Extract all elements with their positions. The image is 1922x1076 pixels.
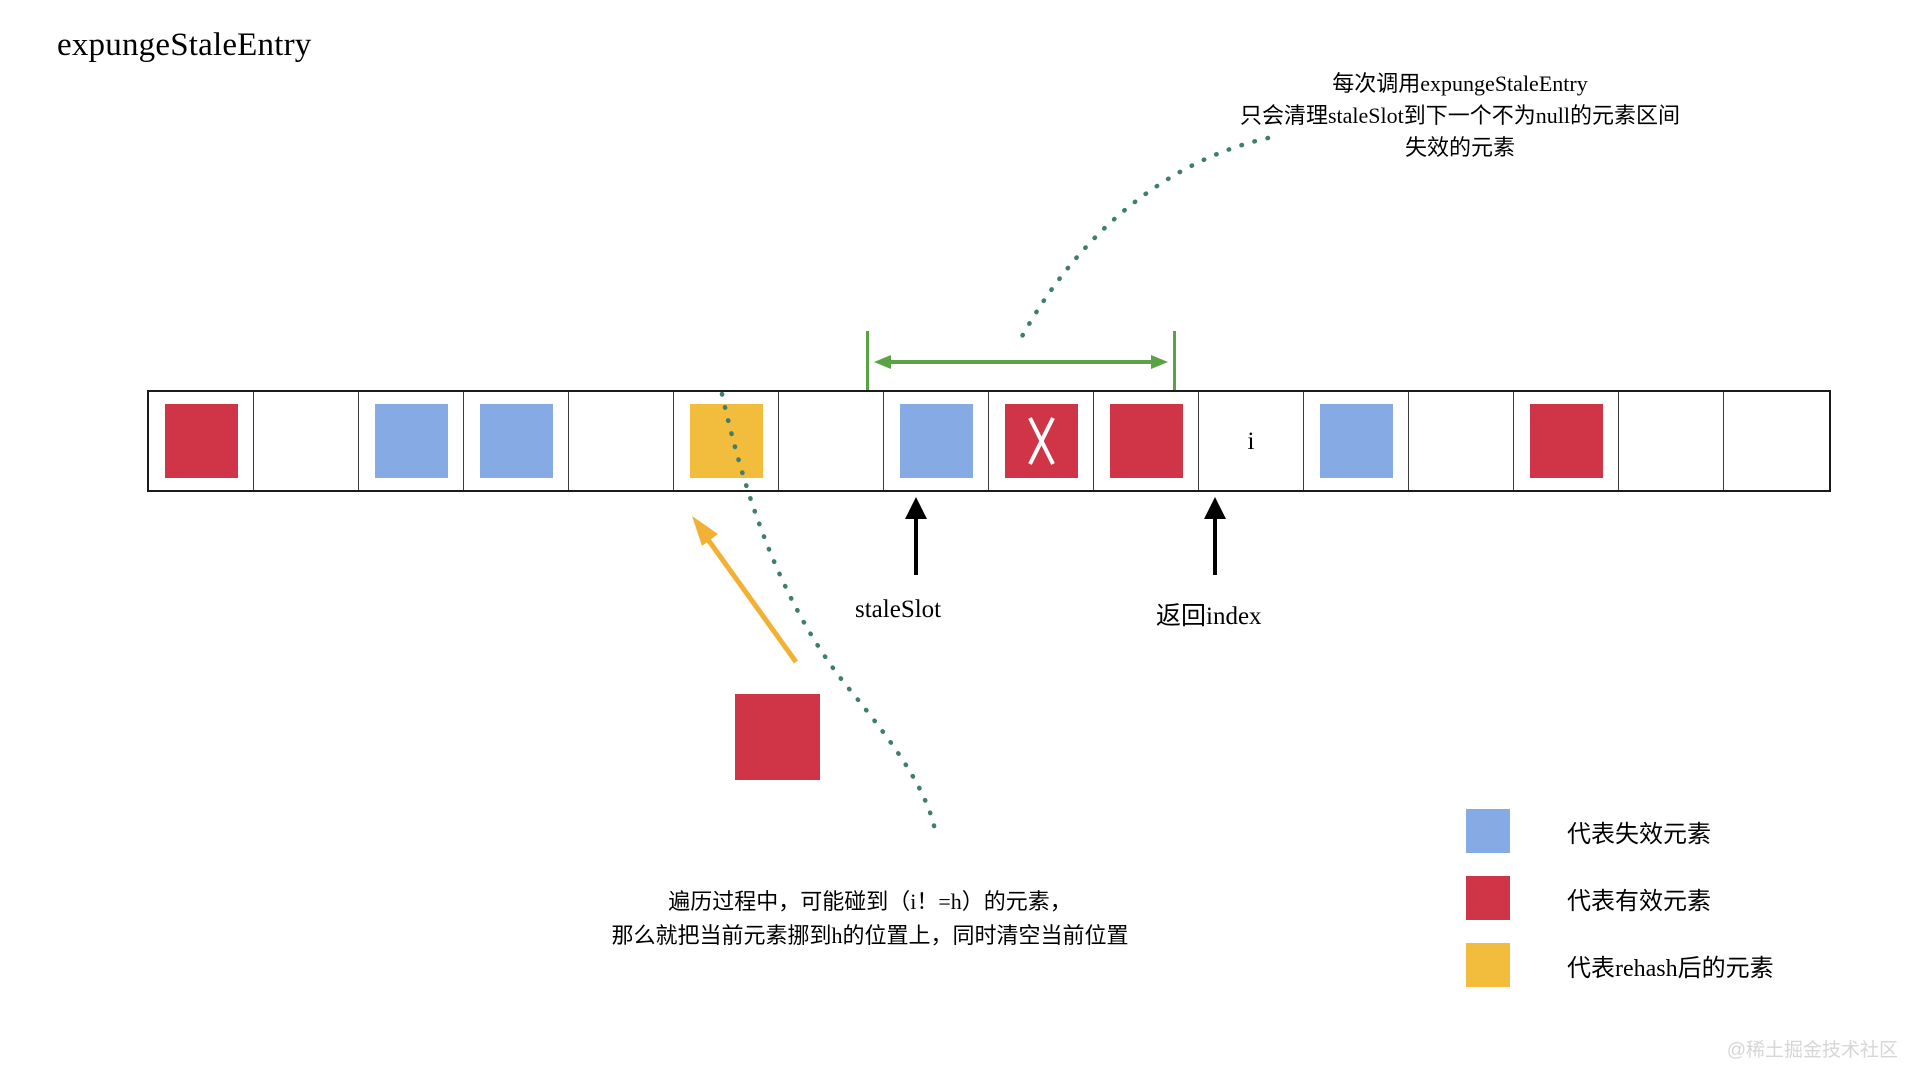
array-cell-block <box>900 404 973 478</box>
array-cell-block <box>375 404 448 478</box>
dotted-connector-top-icon <box>960 130 1280 355</box>
floating-moved-element <box>735 694 820 780</box>
array-cell: i <box>1199 392 1304 490</box>
legend-swatch-red <box>1466 876 1510 920</box>
array-cell-block <box>165 404 238 478</box>
return-index-label: 返回index <box>1156 596 1262 632</box>
range-bracket <box>866 331 1176 393</box>
array-cell <box>464 392 569 490</box>
top-annotation: 每次调用expungeStaleEntry 只会清理staleSlot到下一个不… <box>1180 68 1740 164</box>
diagram-canvas: expungeStaleEntry 每次调用expungeStaleEntry … <box>0 0 1922 1076</box>
bracket-tick-right-icon <box>1173 331 1176 393</box>
array-cell-block <box>1110 404 1183 478</box>
array-cell <box>1409 392 1514 490</box>
bracket-tick-left-icon <box>866 331 869 393</box>
legend-item: 代表rehash后的元素 <box>1466 942 1826 988</box>
legend-swatch-yellow <box>1466 943 1510 987</box>
array-cell <box>1094 392 1199 490</box>
legend: 代表失效元素代表有效元素代表rehash后的元素 <box>1466 808 1826 988</box>
staleslot-pointer-arrow-icon <box>903 497 929 575</box>
array-cell-block <box>1530 404 1603 478</box>
array-cell <box>1304 392 1409 490</box>
array-cell <box>884 392 989 490</box>
staleslot-label: staleSlot <box>855 596 941 624</box>
top-annotation-line-1: 每次调用expungeStaleEntry <box>1180 68 1740 100</box>
array-cell <box>149 392 254 490</box>
array-row: i <box>147 390 1831 492</box>
array-cell <box>569 392 674 490</box>
array-cell <box>254 392 359 490</box>
top-annotation-line-2: 只会清理staleSlot到下一个不为null的元素区间 <box>1180 100 1740 132</box>
legend-label: 代表rehash后的元素 <box>1567 948 1774 983</box>
cross-out-icon <box>1005 404 1078 478</box>
array-cell <box>989 392 1094 490</box>
top-annotation-line-3: 失效的元素 <box>1180 132 1740 164</box>
legend-item: 代表失效元素 <box>1466 808 1826 854</box>
bottom-annotation-line-2: 那么就把当前元素挪到h的位置上，同时清空当前位置 <box>500 919 1240 953</box>
legend-item: 代表有效元素 <box>1466 875 1826 921</box>
rehash-move-arrow-icon <box>680 510 810 670</box>
legend-label: 代表失效元素 <box>1567 814 1711 849</box>
legend-swatch-blue <box>1466 809 1510 853</box>
array-cell-label: i <box>1248 429 1255 454</box>
array-cell-block <box>690 404 763 478</box>
return-index-pointer-arrow-icon <box>1202 497 1228 575</box>
array-cell-block <box>1320 404 1393 478</box>
array-cell <box>1514 392 1619 490</box>
array-cell-block <box>480 404 553 478</box>
page-title: expungeStaleEntry <box>57 27 312 64</box>
watermark: @稀土掘金技术社区 <box>1727 1035 1898 1062</box>
bottom-annotation: 遍历过程中，可能碰到（i！=h）的元素， 那么就把当前元素挪到h的位置上，同时清… <box>500 885 1240 953</box>
array-cell <box>359 392 464 490</box>
legend-label: 代表有效元素 <box>1567 881 1711 916</box>
array-cell <box>779 392 884 490</box>
range-double-arrow-icon <box>874 351 1168 373</box>
array-cell <box>1724 392 1829 490</box>
bottom-annotation-line-1: 遍历过程中，可能碰到（i！=h）的元素， <box>500 885 1240 919</box>
array-cell <box>674 392 779 490</box>
array-cell-block <box>1005 404 1078 478</box>
array-cell <box>1619 392 1724 490</box>
